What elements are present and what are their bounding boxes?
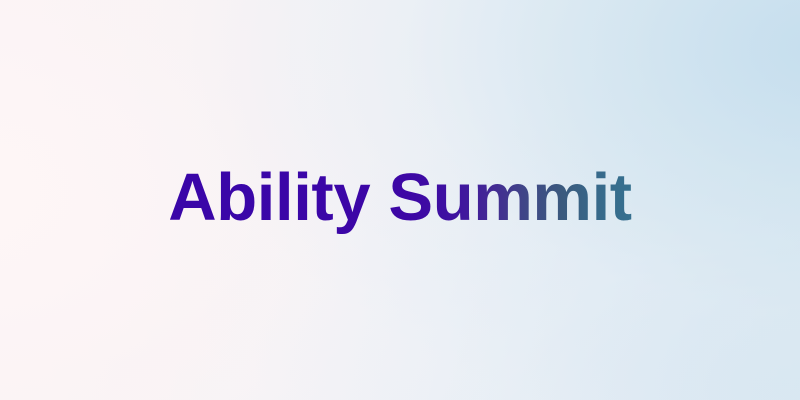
title-card: Ability Summit	[0, 0, 800, 400]
page-title: Ability Summit	[168, 164, 631, 237]
